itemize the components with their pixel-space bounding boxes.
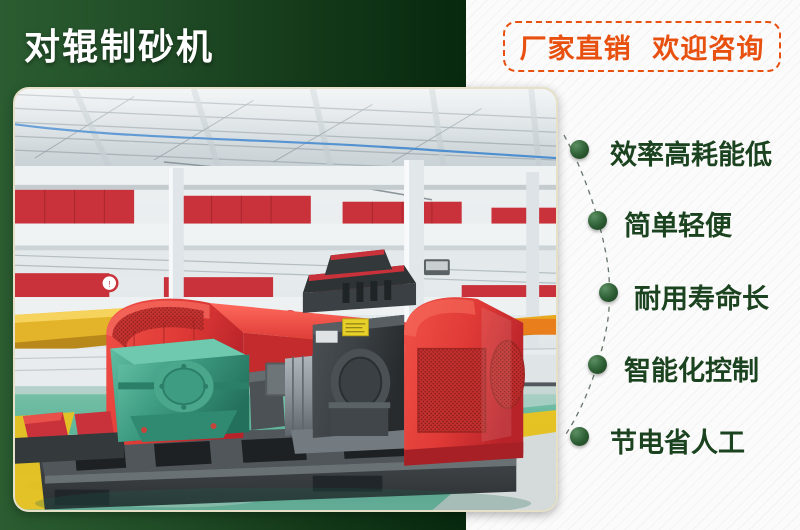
bullet-dot-5 — [570, 427, 589, 446]
bullet-dot-1 — [570, 140, 589, 159]
svg-text:!: ! — [108, 280, 110, 289]
bullet-dot-3 — [599, 283, 618, 302]
feature-item-5[interactable]: 节电省人工 — [610, 421, 745, 460]
feature-item-3[interactable]: 耐用寿命长 — [634, 277, 769, 316]
feature-item-4[interactable]: 智能化控制 — [624, 349, 759, 388]
promo-badge-label: 厂家直销 欢迎咨询 — [520, 27, 765, 66]
factory-scene-illustration: ! — [15, 89, 556, 510]
product-photo: ! — [13, 87, 558, 512]
feature-list: 效率高耗能低 简单轻便 耐用寿命长 智能化控制 节电省人工 — [558, 87, 800, 512]
page-title: 对辊制砂机 — [24, 18, 214, 70]
bullet-dot-4 — [588, 355, 607, 374]
feature-item-1[interactable]: 效率高耗能低 — [610, 133, 772, 172]
promo-badge[interactable]: 厂家直销 欢迎咨询 — [503, 21, 781, 72]
bullet-dot-2 — [588, 211, 607, 230]
page-background: 对辊制砂机 厂家直销 欢迎咨询 — [0, 0, 800, 530]
feature-item-2[interactable]: 简单轻便 — [624, 204, 732, 243]
